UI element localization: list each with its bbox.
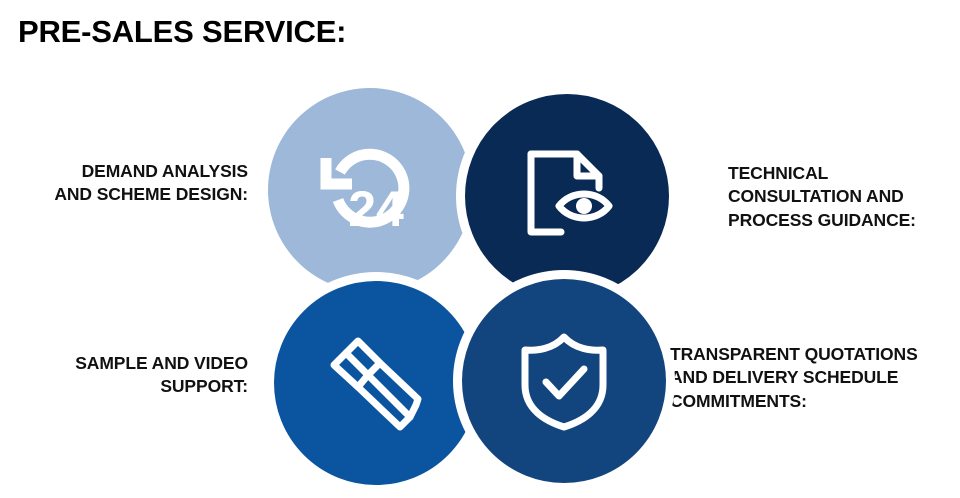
svg-text:24: 24 <box>348 181 404 237</box>
label-line: CONSULTATION AND <box>728 185 960 208</box>
label-line: DEMAND ANALYSIS <box>0 160 248 183</box>
label-line: AND SCHEME DESIGN: <box>0 183 248 206</box>
crossed-pencils-icon <box>274 281 478 485</box>
label-line: PROCESS GUIDANCE: <box>728 209 960 232</box>
circle-transparent-quotations[interactable] <box>453 270 675 492</box>
page-title: PRE-SALES SERVICE: <box>18 14 346 50</box>
label-line: TRANSPARENT QUOTATIONS <box>670 343 960 366</box>
label-line: AND DELIVERY SCHEDULE <box>670 366 960 389</box>
label-line: SAMPLE AND VIDEO <box>0 352 248 375</box>
label-sample-video-support: SAMPLE AND VIDEO SUPPORT: <box>0 352 248 399</box>
label-line: COMMITMENTS: <box>670 390 960 413</box>
rotate-24-hours-icon: 24 <box>268 88 472 292</box>
shield-check-icon <box>462 279 666 483</box>
circle-cluster: 24 <box>260 80 676 490</box>
label-technical-consultation: TECHNICAL CONSULTATION AND PROCESS GUIDA… <box>728 162 960 232</box>
label-demand-analysis: DEMAND ANALYSIS AND SCHEME DESIGN: <box>0 160 248 207</box>
circle-demand-analysis[interactable]: 24 <box>268 88 472 292</box>
label-line: TECHNICAL <box>728 162 960 185</box>
document-eye-icon <box>465 94 669 298</box>
label-transparent-quotations: TRANSPARENT QUOTATIONS AND DELIVERY SCHE… <box>670 343 960 413</box>
label-line: SUPPORT: <box>0 375 248 398</box>
